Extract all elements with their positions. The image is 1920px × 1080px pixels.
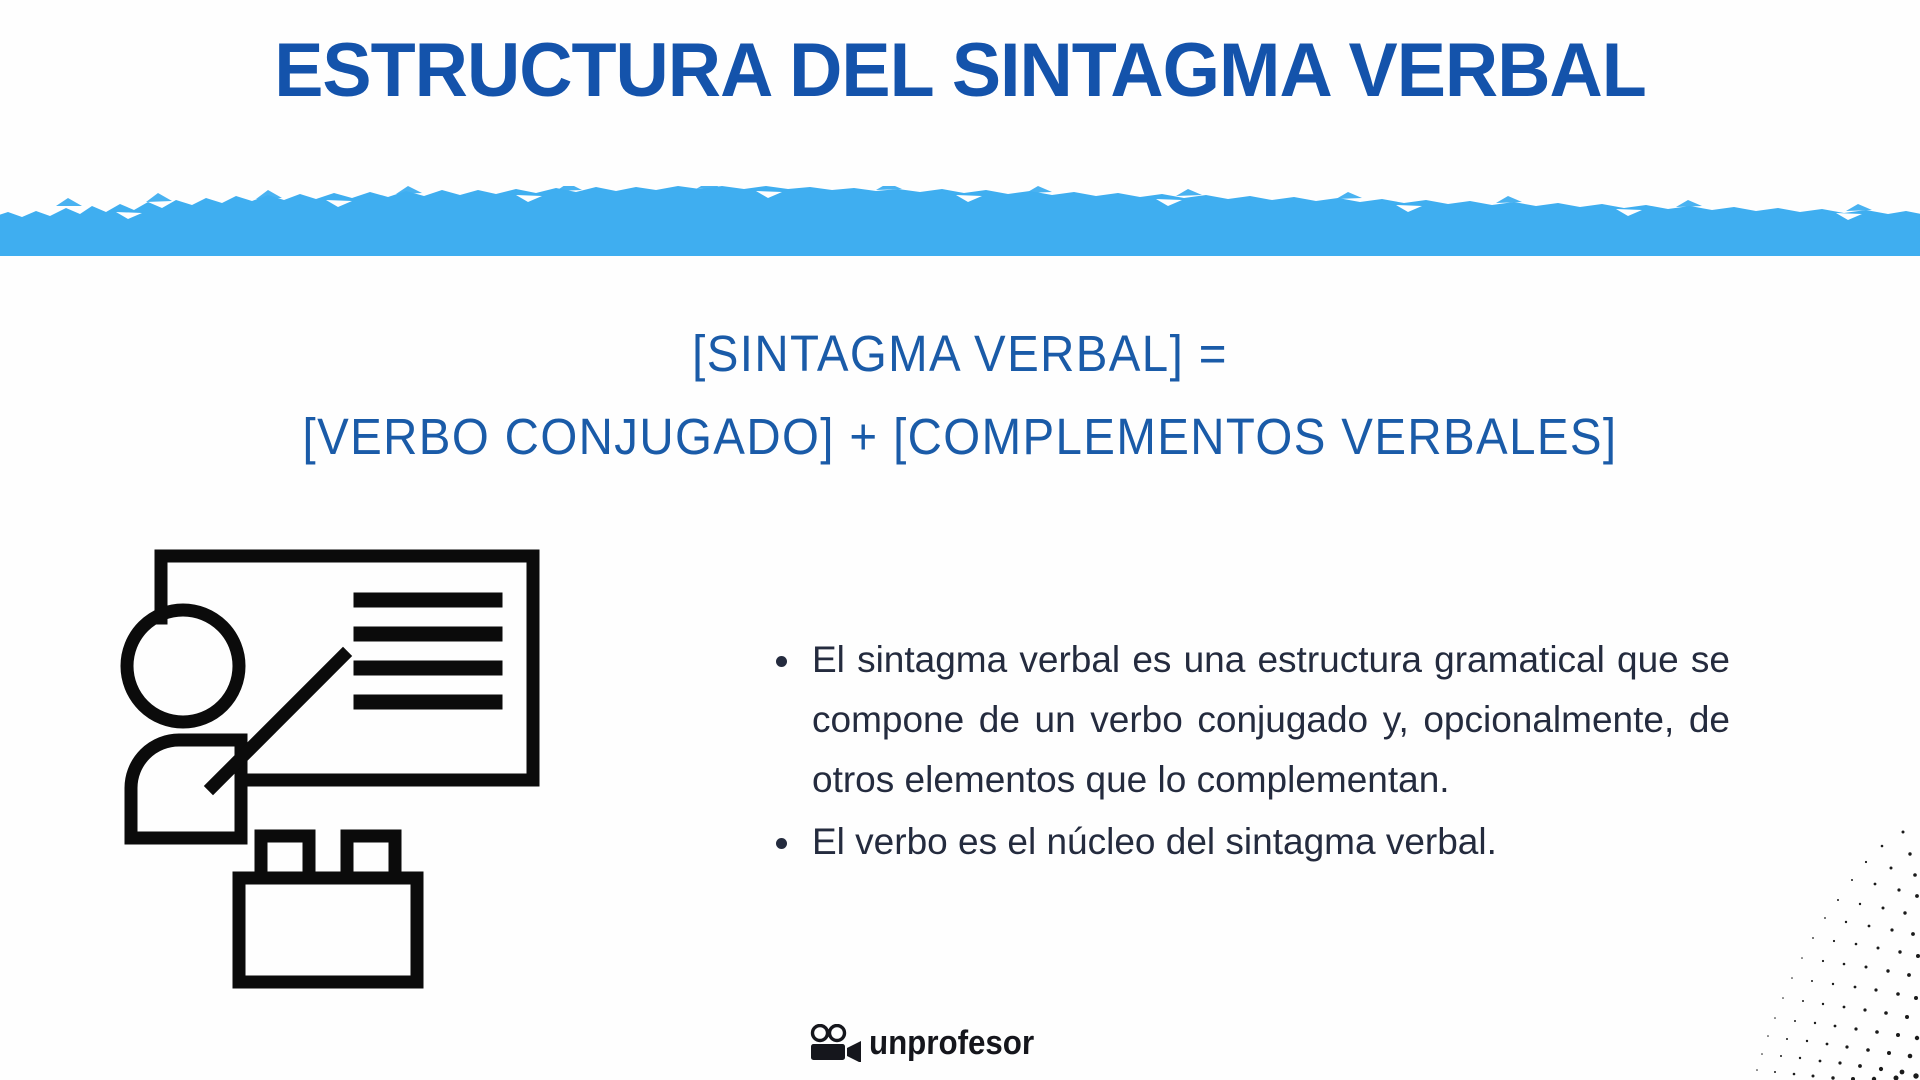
formula-line-1: [SINTAGMA VERBAL] = (67, 312, 1853, 395)
slide-canvas: ESTRUCTURA DEL SINTAGMA VERBAL [SINTAGMA… (0, 0, 1920, 1080)
teacher-at-blackboard-illustration (95, 548, 565, 1008)
page-title: ESTRUCTURA DEL SINTAGMA VERBAL (29, 26, 1891, 116)
bullet-text-1: El sintagma verbal es una estructura gra… (812, 639, 1730, 800)
formula-block: [SINTAGMA VERBAL] = [VERBO CONJUGADO] + … (0, 312, 1920, 478)
teacher-body (131, 740, 241, 838)
bullet-text-2: El verbo es el núcleo del sintagma verba… (812, 821, 1497, 862)
video-camera-icon (808, 1024, 864, 1062)
formula-line-2: [VERBO CONJUGADO] + [COMPLEMENTOS VERBAL… (67, 395, 1853, 478)
desk-icon (239, 836, 417, 982)
list-item: El sintagma verbal es una estructura gra… (770, 630, 1730, 810)
board-text-lines (361, 600, 495, 702)
brand-name: unprofesor (869, 1024, 1035, 1063)
teacher-head (127, 610, 239, 722)
unprofesor-logo: unprofesor (808, 1020, 1048, 1066)
bullet-list-container: El sintagma verbal es una estructura gra… (770, 630, 1730, 874)
brush-stroke-divider (0, 186, 1920, 256)
list-item: El verbo es el núcleo del sintagma verba… (770, 812, 1730, 872)
bullet-list: El sintagma verbal es una estructura gra… (770, 630, 1730, 872)
